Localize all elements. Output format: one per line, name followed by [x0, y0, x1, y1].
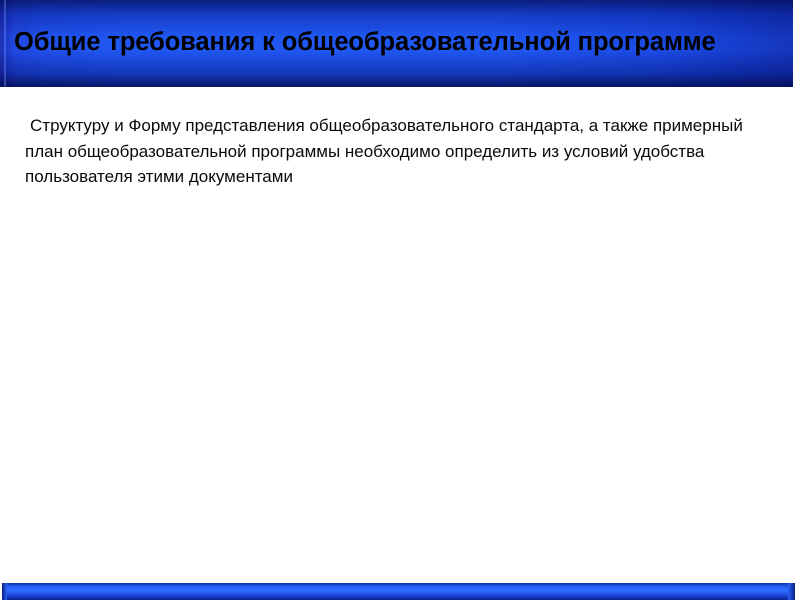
slide-bottom-bar — [2, 583, 795, 600]
slide-title-band: Общие требования к общеобразовательной п… — [0, 0, 793, 87]
page-title: Общие требования к общеобразовательной п… — [14, 26, 784, 58]
body-paragraph: Структуру и Форму представления общеобра… — [25, 113, 770, 190]
presentation-slide: Общие требования к общеобразовательной п… — [0, 0, 800, 600]
slide-body-text: Структуру и Форму представления общеобра… — [25, 113, 770, 190]
